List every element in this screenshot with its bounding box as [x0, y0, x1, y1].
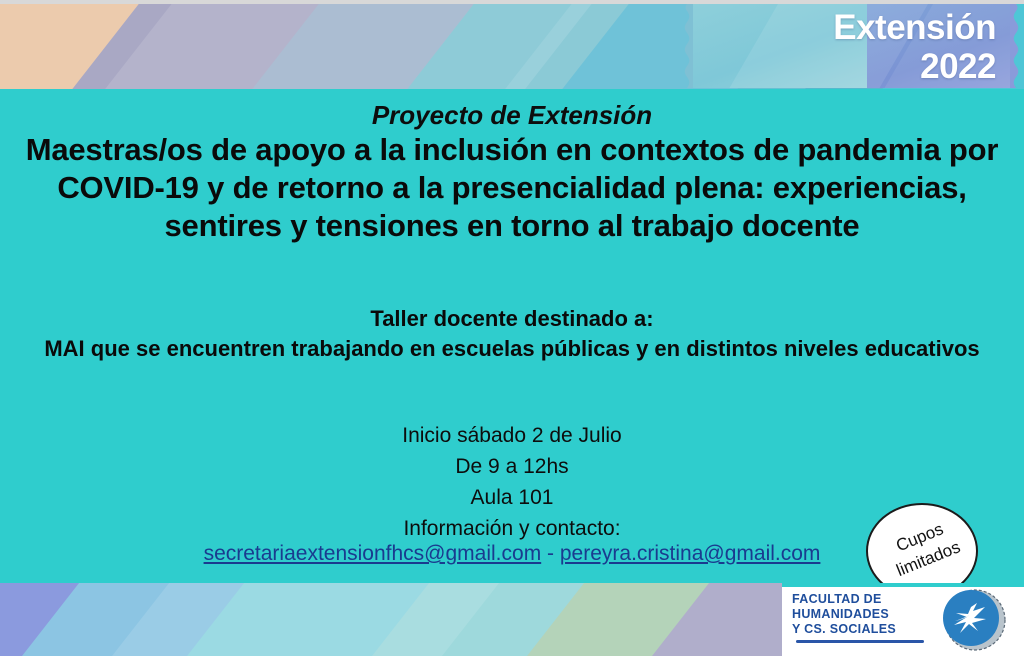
email-link-secondary[interactable]: pereyra.cristina@gmail.com	[560, 542, 821, 565]
audience-block: Taller docente destinado a: MAI que se e…	[20, 304, 1004, 364]
banner-title-line1: Extensión	[692, 4, 996, 48]
main-content-panel: Proyecto de Extensión Maestras/os de apo…	[0, 89, 1024, 584]
faculty-logo-panel: FACULTAD DE HUMANIDADES Y CS. SOCIALES	[782, 583, 1024, 656]
contact-emails: secretariaextensionfhcs@gmail.com - pere…	[20, 541, 1004, 567]
faculty-logo-text: FACULTAD DE HUMANIDADES Y CS. SOCIALES	[792, 592, 934, 637]
faculty-line2: HUMANIDADES	[792, 607, 934, 622]
project-subtitle: Proyecto de Extensión	[0, 100, 1024, 131]
faculty-logo-underline	[796, 640, 924, 643]
audience-body: MAI que se encuentren trabajando en escu…	[20, 334, 1004, 364]
extension-poster: Extensión 2022 Proyecto de Extensión Mae…	[0, 0, 1024, 656]
email-link-primary[interactable]: secretariaextensionfhcs@gmail.com	[204, 542, 542, 565]
limited-seats-badge-text: Cupos limitados	[863, 506, 984, 591]
banner-scallop-right-icon	[1010, 4, 1019, 88]
detail-start-date: Inicio sábado 2 de Julio	[20, 420, 1004, 451]
faculty-line3: Y CS. SOCIALES	[792, 622, 934, 637]
page-title: Maestras/os de apoyo a la inclusión en c…	[18, 131, 1006, 245]
banner-text: Extensión 2022	[692, 4, 1010, 88]
banner-title-line2: 2022	[692, 48, 996, 86]
email-separator: -	[541, 542, 560, 565]
audience-heading: Taller docente destinado a:	[20, 304, 1004, 334]
detail-room: Aula 101	[20, 482, 1004, 513]
event-details-block: Inicio sábado 2 de Julio De 9 a 12hs Aul…	[20, 420, 1004, 544]
faculty-line1: FACULTAD DE	[792, 592, 934, 607]
detail-time: De 9 a 12hs	[20, 451, 1004, 482]
detail-contact-heading: Información y contacto:	[20, 513, 1004, 544]
extension-2022-banner: Extensión 2022	[684, 4, 1018, 88]
seagull-emblem-icon	[938, 585, 1008, 655]
logo-panel-top-strip	[782, 583, 1024, 587]
